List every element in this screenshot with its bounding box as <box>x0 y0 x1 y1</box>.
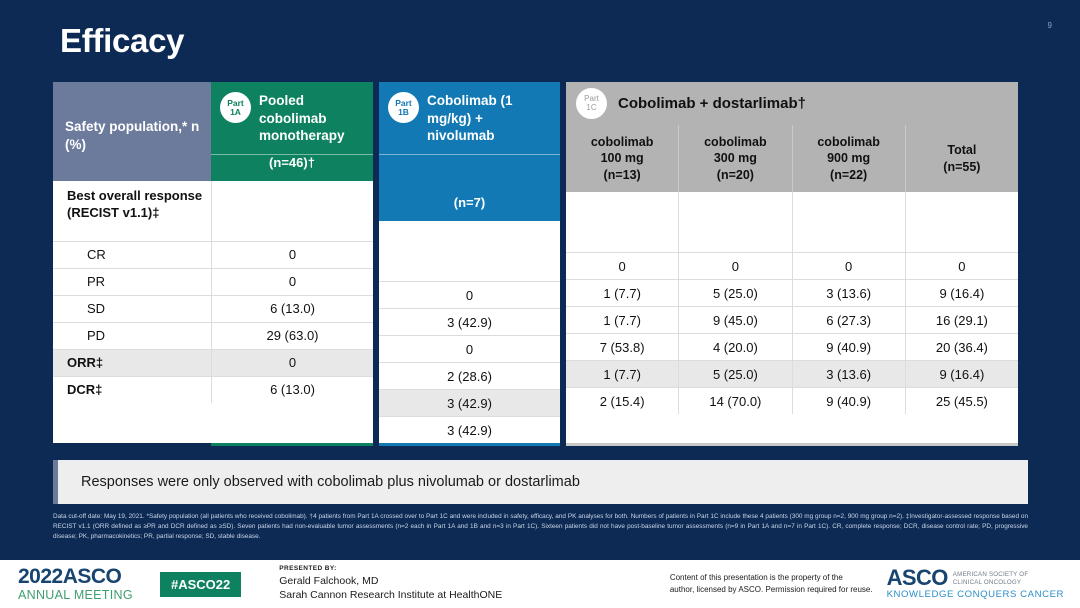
cell: 0 <box>792 253 905 279</box>
table-row: 1 (7.7) 9 (45.0) 6 (27.3) 16 (29.1) <box>566 306 1018 333</box>
asco-meeting-logo-line1: 2022ASCO <box>18 566 142 587</box>
presented-by-label: PRESENTED BY: <box>279 565 502 574</box>
table-row <box>379 221 560 281</box>
rights-line2: author, licensed by ASCO. Permission req… <box>670 584 873 596</box>
cell: 0 <box>678 253 791 279</box>
accent-bar-part-1c <box>566 443 1018 446</box>
table-block-part-1a: Safety population,* n (%) Part 1A Pooled… <box>53 82 373 446</box>
cell: 16 (29.1) <box>905 307 1018 333</box>
row-label: PR <box>53 269 211 295</box>
col0-line3: (n=13) <box>604 168 641 182</box>
asco-meeting-logo: 2022ASCO ANNUAL MEETING <box>18 566 142 602</box>
part-1b-badge: Part 1B <box>388 92 419 123</box>
rights-line1: Content of this presentation is the prop… <box>670 572 873 584</box>
table-row: CR 0 <box>53 241 373 268</box>
table-row: ORR‡ 0 <box>53 349 373 376</box>
table-row: Best overall response (RECIST v1.1)‡ <box>53 181 373 241</box>
cell: 6 (27.3) <box>792 307 905 333</box>
group-header-part-1a: Part 1A Pooled cobolimab monotherapy (n=… <box>211 82 373 181</box>
group-header-part-1b: Part 1B Cobolimab (1 mg/kg) + nivolumab … <box>379 82 560 221</box>
col2-line2: 900 mg <box>827 151 870 165</box>
cell: 4 (20.0) <box>678 334 791 360</box>
cell: 9 (16.4) <box>905 361 1018 387</box>
cell: 5 (25.0) <box>678 361 791 387</box>
cell: 0 <box>905 253 1018 279</box>
body-part-1c: 0 0 0 0 1 (7.7) 5 (25.0) 3 (13.6) 9 (16.… <box>566 192 1018 443</box>
table-block-part-1b: Part 1B Cobolimab (1 mg/kg) + nivolumab … <box>379 82 560 446</box>
table-row <box>566 192 1018 252</box>
presented-by: PRESENTED BY: Gerald Falchook, MD Sarah … <box>279 565 502 602</box>
cell <box>905 192 1018 252</box>
cell: 1 (7.7) <box>566 361 678 387</box>
stub-header: Safety population,* n (%) <box>53 82 211 181</box>
table-row: 3 (42.9) <box>379 308 560 335</box>
presenter-affiliation: Sarah Cannon Research Institute at Healt… <box>279 588 502 602</box>
column-header-total: Total (n=55) <box>905 125 1018 192</box>
body-part-1a: Best overall response (RECIST v1.1)‡ CR … <box>53 181 373 443</box>
asco-wordmark: ASCO <box>887 568 948 589</box>
table-row: 0 <box>379 335 560 362</box>
slide: 9 Efficacy Safety population,* n (%) Par… <box>0 0 1080 608</box>
cell: 3 (42.9) <box>379 417 560 443</box>
row-label: CR <box>53 242 211 268</box>
cell: 0 <box>379 336 560 362</box>
cell: 1 (7.7) <box>566 307 678 333</box>
table-row: 3 (42.9) <box>379 416 560 443</box>
cell: 9 (40.9) <box>792 334 905 360</box>
asco-society-logo: ASCO AMERICAN SOCIETY OF CLINICAL ONCOLO… <box>887 568 1064 601</box>
col2-line1: cobolimab <box>817 135 880 149</box>
asco-meeting-logo-line2: ANNUAL MEETING <box>18 589 142 602</box>
asco-society-line2: CLINICAL ONCOLOGY <box>953 579 1029 587</box>
column-header-cobolimab-100mg: cobolimab 100 mg (n=13) <box>566 125 678 192</box>
cell: 0 <box>211 350 373 376</box>
part-1b-n: (n=7) <box>379 155 560 221</box>
cell: 2 (15.4) <box>566 388 678 414</box>
cell: 7 (53.8) <box>566 334 678 360</box>
callout-text: Responses were only observed with coboli… <box>81 474 580 490</box>
cell <box>566 192 678 252</box>
key-takeaway-callout: Responses were only observed with coboli… <box>53 460 1028 504</box>
presenter-name: Gerald Falchook, MD <box>279 574 502 588</box>
col0-line2: 100 mg <box>601 151 644 165</box>
row-label-best-overall-response: Best overall response (RECIST v1.1)‡ <box>53 181 211 241</box>
efficacy-table: Safety population,* n (%) Part 1A Pooled… <box>53 82 1028 446</box>
column-header-cobolimab-300mg: cobolimab 300 mg (n=20) <box>678 125 791 192</box>
col2-line3: (n=22) <box>830 168 867 182</box>
table-row: 0 0 0 0 <box>566 252 1018 279</box>
cell <box>379 221 560 281</box>
cell: 3 (42.9) <box>379 309 560 335</box>
body-part-1b: 0 3 (42.9) 0 2 (28.6) 3 (42.9) 3 (42.9) <box>379 221 560 443</box>
part-1c-title: Cobolimab + dostarlimab† <box>618 95 806 112</box>
part-1a-badge-line2: 1A <box>230 108 241 117</box>
cell: 9 (16.4) <box>905 280 1018 306</box>
table-row: SD 6 (13.0) <box>53 295 373 322</box>
cell: 3 (42.9) <box>379 390 560 416</box>
cell: 0 <box>211 242 373 268</box>
cell: 0 <box>379 282 560 308</box>
table-row: 0 <box>379 281 560 308</box>
cell <box>792 192 905 252</box>
table-row: 2 (15.4) 14 (70.0) 9 (40.9) 25 (45.5) <box>566 387 1018 414</box>
table-row: 7 (53.8) 4 (20.0) 9 (40.9) 20 (36.4) <box>566 333 1018 360</box>
col1-line3: (n=20) <box>717 168 754 182</box>
table-row: 3 (42.9) <box>379 389 560 416</box>
cell: 3 (13.6) <box>792 361 905 387</box>
table-row: 1 (7.7) 5 (25.0) 3 (13.6) 9 (16.4) <box>566 360 1018 387</box>
rights-statement: Content of this presentation is the prop… <box>670 572 873 595</box>
accent-bar-part-1b <box>379 443 560 446</box>
part-1c-badge-line2: 1C <box>586 104 596 112</box>
part-1c-subheaders: cobolimab 100 mg (n=13) cobolimab 300 mg… <box>566 125 1018 192</box>
cell: 5 (25.0) <box>678 280 791 306</box>
part-1b-title: Cobolimab (1 mg/kg) + nivolumab <box>427 92 550 145</box>
cell: 20 (36.4) <box>905 334 1018 360</box>
row-label: SD <box>53 296 211 322</box>
cell: 2 (28.6) <box>379 363 560 389</box>
part-1a-title: Pooled cobolimab monotherapy <box>259 92 363 145</box>
col1-line1: cobolimab <box>704 135 767 149</box>
part-1a-n: (n=46)† <box>211 155 373 181</box>
col3-line2: Total <box>947 143 976 157</box>
asco-society-name: AMERICAN SOCIETY OF CLINICAL ONCOLOGY <box>953 568 1029 588</box>
cell: 6 (13.0) <box>211 296 373 322</box>
cell: 9 (40.9) <box>792 388 905 414</box>
page-number: 9 <box>1048 21 1052 30</box>
cell: 0 <box>211 269 373 295</box>
cell <box>678 192 791 252</box>
cell: 6 (13.0) <box>211 377 373 403</box>
cell: 14 (70.0) <box>678 388 791 414</box>
cell: 25 (45.5) <box>905 388 1018 414</box>
part-1b-badge-line2: 1B <box>398 108 409 117</box>
footnote: Data cut-off date: May 19, 2021. *Safety… <box>53 512 1028 542</box>
table-row: PR 0 <box>53 268 373 295</box>
cell: 1 (7.7) <box>566 280 678 306</box>
table-block-part-1c: Part 1C Cobolimab + dostarlimab† cobolim… <box>566 82 1018 446</box>
col3-line3: (n=55) <box>943 160 980 174</box>
group-header-part-1c: Part 1C Cobolimab + dostarlimab† <box>566 82 1018 125</box>
row-label: PD <box>53 323 211 349</box>
cell: 9 (45.0) <box>678 307 791 333</box>
cell: 29 (63.0) <box>211 323 373 349</box>
slide-footer: 2022ASCO ANNUAL MEETING #ASCO22 PRESENTE… <box>0 560 1080 608</box>
col1-line2: 300 mg <box>714 151 757 165</box>
part-1c-badge: Part 1C <box>576 88 607 119</box>
row-label: ORR‡ <box>53 350 211 376</box>
column-header-cobolimab-900mg: cobolimab 900 mg (n=22) <box>792 125 905 192</box>
table-row: PD 29 (63.0) <box>53 322 373 349</box>
cell: 3 (13.6) <box>792 280 905 306</box>
col0-line1: cobolimab <box>591 135 654 149</box>
table-row: 1 (7.7) 5 (25.0) 3 (13.6) 9 (16.4) <box>566 279 1018 306</box>
header-row-part-1a: Safety population,* n (%) Part 1A Pooled… <box>53 82 373 181</box>
page-title: Efficacy <box>60 22 184 60</box>
table-row: DCR‡ 6 (13.0) <box>53 376 373 403</box>
asco-tagline: KNOWLEDGE CONQUERS CANCER <box>887 589 1064 600</box>
part-1a-badge: Part 1A <box>220 92 251 123</box>
cell <box>211 181 373 241</box>
asco-society-line1: AMERICAN SOCIETY OF <box>953 571 1029 579</box>
table-row: 2 (28.6) <box>379 362 560 389</box>
accent-bar-part-1a <box>211 443 373 446</box>
cell: 0 <box>566 253 678 279</box>
row-label: DCR‡ <box>53 377 211 403</box>
hashtag-badge: #ASCO22 <box>160 572 241 597</box>
